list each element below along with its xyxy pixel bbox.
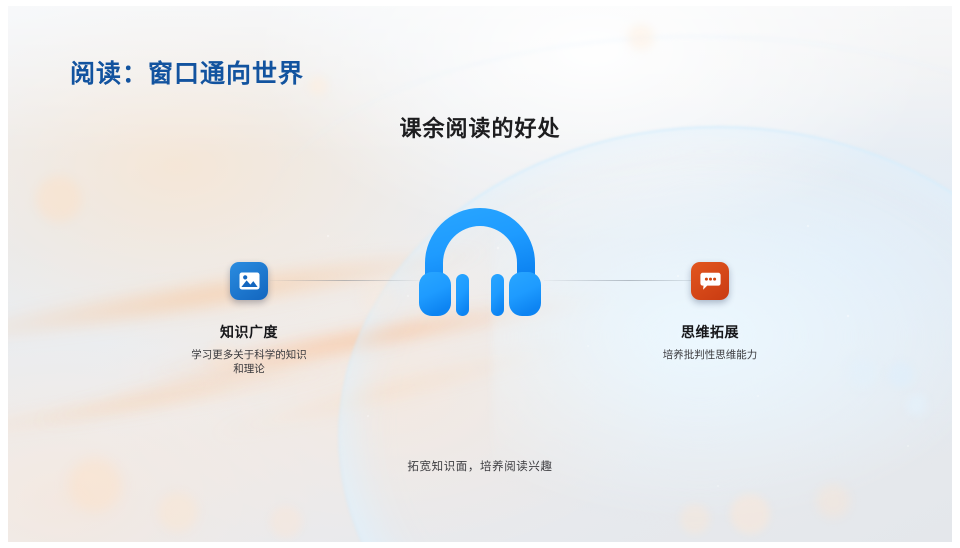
bokeh-circle xyxy=(848,358,878,388)
presentation-slide: 阅读：窗口通向世界 课余阅读的好处 xyxy=(0,0,960,548)
page-subtitle: 课余阅读的好处 xyxy=(8,111,952,143)
bokeh-circle xyxy=(360,278,396,314)
feature-node-description: 学习更多关于科学的知识和理论 xyxy=(188,348,310,376)
feature-node-title: 思维拓展 xyxy=(595,322,825,342)
bokeh-circle xyxy=(680,504,710,534)
bokeh-circle xyxy=(888,362,914,388)
chat-bubble-icon xyxy=(691,262,729,300)
bokeh-circle xyxy=(158,492,198,532)
image-icon xyxy=(230,262,268,300)
bokeh-circle xyxy=(628,24,654,50)
feature-node-thinking-expansion[interactable]: 思维拓展 培养批判性思维能力 xyxy=(595,262,825,362)
headphones-icon xyxy=(413,196,547,318)
bokeh-circle xyxy=(36,176,82,222)
bokeh-circle xyxy=(270,506,302,538)
background-particle-arc-2 xyxy=(258,36,952,436)
bokeh-circle xyxy=(816,484,850,518)
bokeh-circle xyxy=(906,394,928,416)
feature-node-title: 知识广度 xyxy=(134,322,364,342)
slide-canvas: 阅读：窗口通向世界 课余阅读的好处 xyxy=(8,6,952,542)
page-title: 阅读：窗口通向世界 xyxy=(70,54,304,90)
feature-node-description: 培养批判性思维能力 xyxy=(630,348,790,362)
slide-footer-text: 拓宽知识面，培养阅读兴趣 xyxy=(8,458,952,474)
feature-node-knowledge-breadth[interactable]: 知识广度 学习更多关于科学的知识和理论 xyxy=(134,262,364,376)
bokeh-circle xyxy=(730,494,770,534)
bokeh-circle xyxy=(308,76,328,96)
